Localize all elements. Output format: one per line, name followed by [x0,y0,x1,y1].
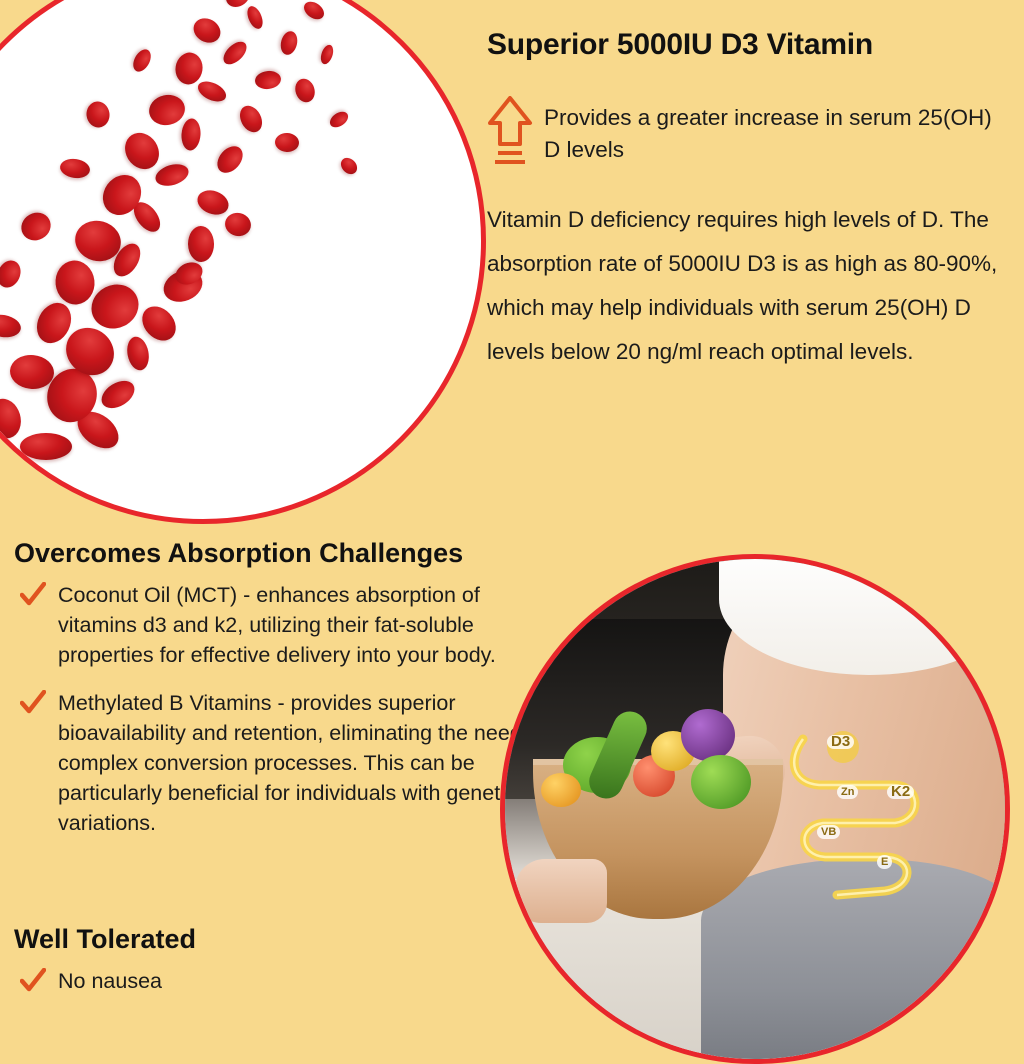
blood-cell [189,14,225,48]
list-item: No nausea [14,966,488,996]
blood-cell [53,259,96,307]
gut-label-d3: D3 [827,735,854,749]
up-arrow-icon [487,96,533,172]
vegetable [681,709,735,761]
blood-cell [223,210,254,238]
gut-label-zn: Zn [837,785,858,799]
blood-cell [195,77,229,105]
blood-cells-image [0,0,486,524]
list-item-text: No nausea [58,966,488,996]
blood-cell [97,375,140,414]
gut-overlay-illustration: D3 Zn K2 VB E [775,727,955,917]
blood-cell [118,126,166,175]
blood-cell [236,102,267,136]
blood-cell [292,76,317,105]
blood-cell [0,257,25,292]
section-title-tolerated: Well Tolerated [14,924,196,955]
gut-label-k2: K2 [887,785,914,799]
vegetable [541,773,581,807]
blood-cell [188,226,215,262]
blood-cell [146,92,187,129]
blood-cells-illustration [0,0,481,519]
blood-cell [275,132,300,152]
blood-cell [244,4,265,31]
list-item: Coconut Oil (MCT) - enhances absorption … [14,580,554,670]
top-body-text: Vitamin D deficiency requires high level… [487,198,1009,374]
blood-cell [59,157,91,180]
page-title: Superior 5000IU D3 Vitamin [487,28,1007,62]
blood-cell [278,29,299,56]
bullet-list: Coconut Oil (MCT) - enhances absorption … [14,580,554,856]
highlight-text: Provides a greater increase in serum 25(… [544,102,999,166]
blood-cell [219,38,250,69]
woman-vegetables-image: D3 Zn K2 VB E [500,554,1010,1064]
blood-cell [212,141,248,177]
blood-cell [254,69,282,90]
list-item: Methylated B Vitamins - provides superio… [14,688,554,838]
hand [515,859,607,923]
blood-cell [180,118,201,151]
blood-cell [130,46,155,74]
blood-cell [153,160,191,189]
vegetable [691,755,751,809]
gut-label-vb: VB [817,825,840,839]
blood-cell [327,109,351,131]
blood-cell [173,51,205,87]
blood-cell [319,43,336,65]
blood-cell [85,100,111,129]
top-section: Superior 5000IU D3 Vitamin Provides a gr… [0,0,1024,516]
blood-cell [16,207,55,245]
blood-cell [0,312,23,340]
blood-cell [0,395,25,442]
blood-cell [194,186,232,219]
blood-cell [124,335,151,372]
blood-cell [20,433,72,460]
list-item-text: Coconut Oil (MCT) - enhances absorption … [58,580,554,670]
blood-cell [301,0,328,23]
check-icon [20,690,46,716]
blood-cell [338,155,361,178]
check-icon [20,582,46,608]
section-title-absorption: Overcomes Absorption Challenges [14,538,463,569]
list-item-text: Methylated B Vitamins - provides superio… [58,688,554,838]
check-icon [20,968,46,994]
bottom-section: Overcomes Absorption Challenges Coconut … [0,516,1024,1024]
